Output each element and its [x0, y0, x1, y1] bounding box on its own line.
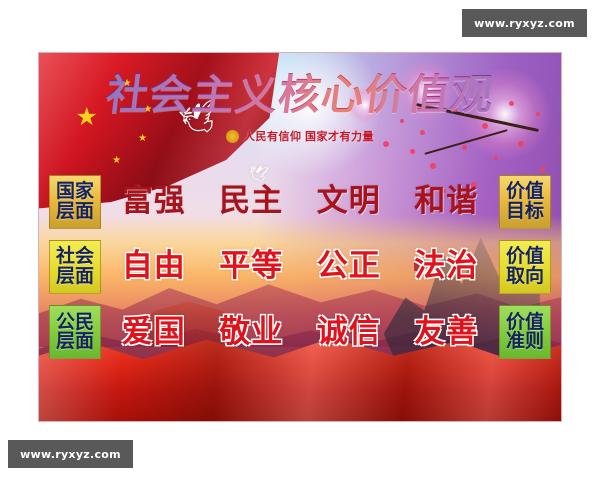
value-pingdeng: 平等: [219, 251, 283, 282]
value-chengxin: 诚信: [317, 317, 381, 348]
value-hexie: 和谐: [414, 186, 478, 217]
value-fuqiang: 富强: [122, 186, 186, 217]
level-label-social: 社会 层面: [49, 240, 101, 294]
poster-subtitle: 人民有信仰 国家才有力量: [39, 127, 561, 145]
principle-label-orientation: 价值 取向: [499, 240, 551, 294]
value-jingye: 敬业: [219, 317, 283, 348]
value-youshan: 友善: [414, 317, 478, 348]
values-citizen: 爱国 敬业 诚信 友善: [105, 302, 495, 363]
principle-label-goal-line1: 价值: [506, 182, 544, 202]
poster-title: 社会主义核心价值观: [38, 67, 562, 123]
principle-label-norm: 价值 准则: [499, 305, 551, 359]
value-fazhi: 法治: [414, 251, 478, 282]
level-label-national-line1: 国家: [56, 182, 94, 202]
level-label-citizen-line2: 层面: [56, 332, 94, 352]
watermark-bottom: www.ryxyz.com: [8, 440, 133, 468]
principle-label-goal: 价值 目标: [499, 175, 551, 229]
value-gongzheng: 公正: [317, 251, 381, 282]
values-row-national: 国家 层面 富强 民主 文明 和谐 价值 目标: [49, 171, 551, 232]
values-row-citizen: 公民 层面 爱国 敬业 诚信 友善 价值 准则: [49, 302, 551, 363]
level-label-national: 国家 层面: [49, 175, 101, 229]
value-wenming: 文明: [317, 186, 381, 217]
watermark-top: www.ryxyz.com: [462, 9, 587, 37]
values-social: 自由 平等 公正 法治: [105, 236, 495, 297]
poster-image: ★ ★ ★ ★ ★ 🕊 🕊 社会主义核心价值观 人民有信仰 国家才有力量 国家 …: [38, 52, 562, 422]
principle-label-goal-line2: 目标: [506, 202, 544, 222]
values-national: 富强 民主 文明 和谐: [105, 171, 495, 232]
party-emblem-icon: [226, 130, 239, 143]
principle-label-orientation-line2: 取向: [506, 267, 544, 287]
level-label-social-line2: 层面: [56, 267, 94, 287]
values-grid: 国家 层面 富强 民主 文明 和谐 价值 目标 社会 层面: [49, 171, 551, 363]
value-minzhu: 民主: [219, 186, 283, 217]
values-row-social: 社会 层面 自由 平等 公正 法治 价值 取向: [49, 236, 551, 297]
level-label-citizen: 公民 层面: [49, 305, 101, 359]
value-ziyou: 自由: [122, 251, 186, 282]
level-label-national-line2: 层面: [56, 202, 94, 222]
poster-subtitle-text: 人民有信仰 国家才有力量: [244, 128, 374, 144]
value-aiguo: 爱国: [122, 317, 186, 348]
principle-label-norm-line2: 准则: [506, 332, 544, 352]
